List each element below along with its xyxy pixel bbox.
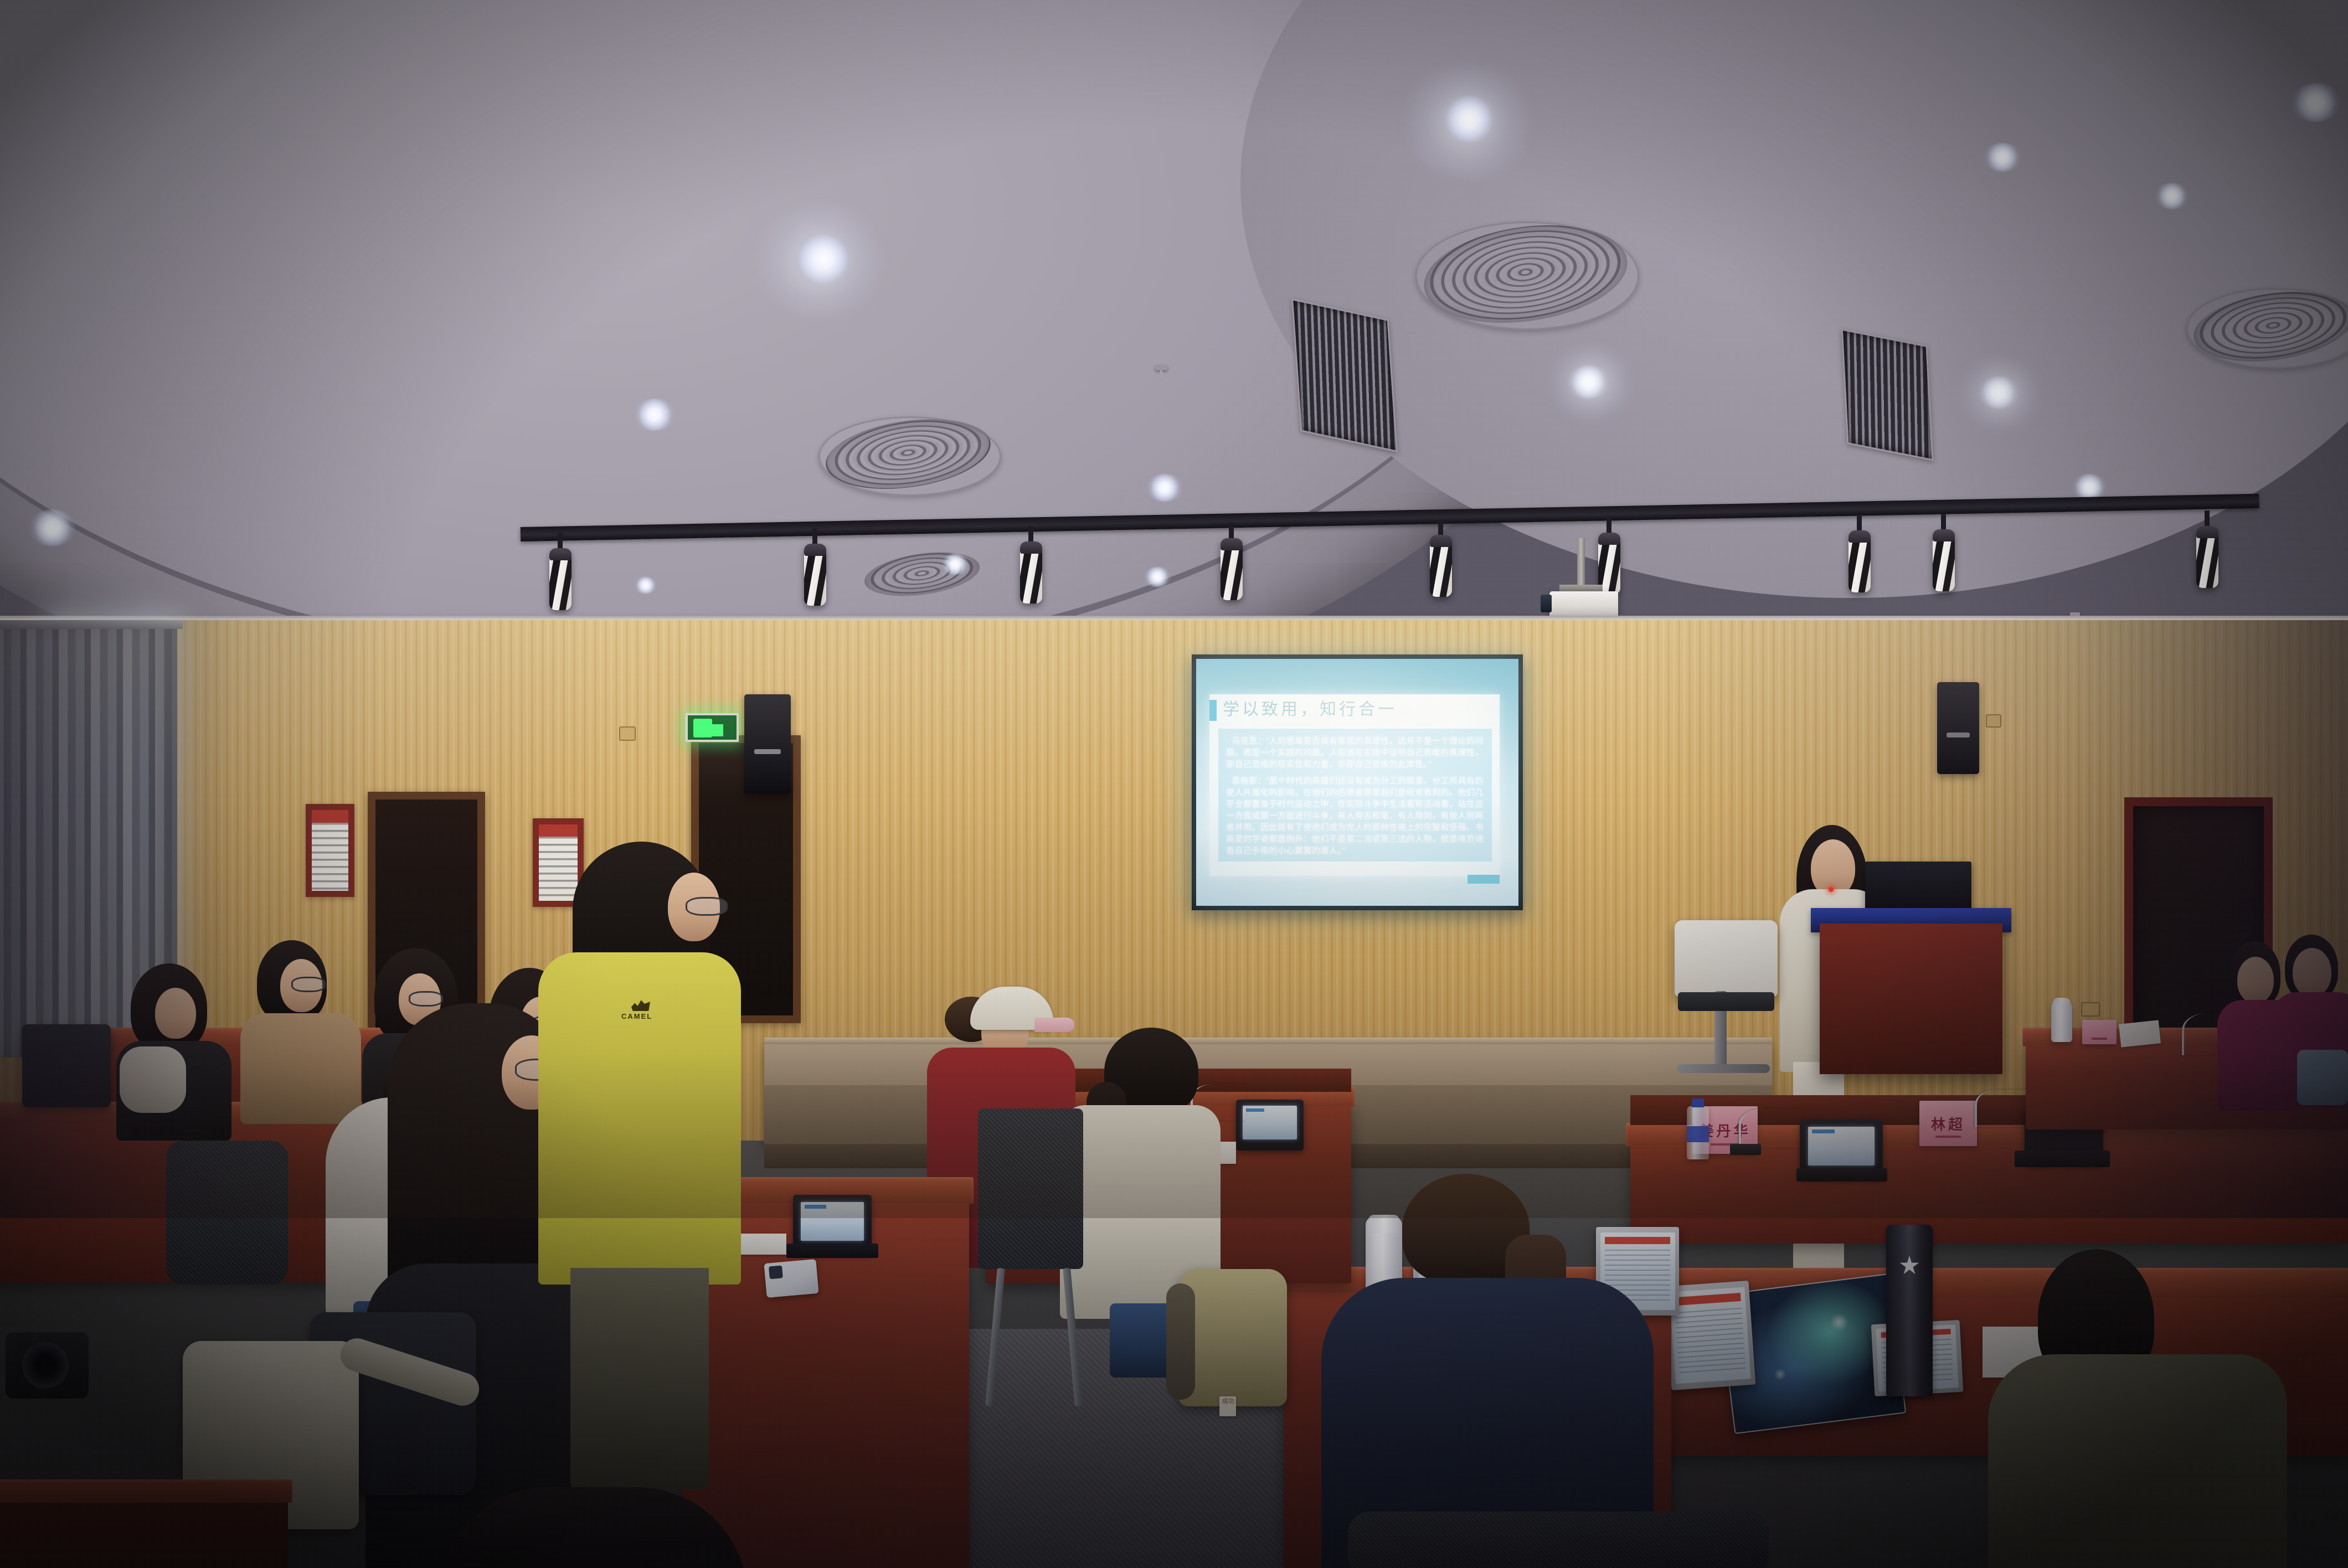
bottom-left-desk: [0, 1495, 288, 1568]
ceiling-downlight: [791, 234, 856, 285]
downlight-glow: [1544, 347, 1638, 419]
track-spotlight: [1221, 538, 1243, 600]
laptop-screen[interactable]: [1669, 1287, 1751, 1384]
backpack-strap: [1166, 1283, 1195, 1400]
lecture-hall-photo: 学以致用，知行合一 马克思：“人的思维是否具有客观的真理性，这并不是一个理论的问…: [0, 0, 2348, 1568]
ceiling-vent-grille-icon: [1841, 328, 1934, 461]
track-spotlight: [2196, 526, 2218, 588]
ceiling-downlight: [2289, 83, 2342, 122]
track-spotlight: [1933, 529, 1955, 591]
standing-attendee-trousers: [570, 1268, 709, 1489]
chair-backrest[interactable]: [1348, 1512, 1769, 1568]
track-spotlight: [1020, 541, 1042, 604]
ceiling-downlight: [634, 577, 658, 594]
downlight-glow: [1955, 359, 2046, 429]
track-spotlight: [549, 548, 571, 610]
ceiling-downlight: [1983, 143, 2022, 172]
track-spotlight: [804, 544, 826, 606]
laptop-screen-text-rows: [1675, 1308, 1746, 1376]
ceiling-vent-grille-icon: [1291, 298, 1398, 452]
ceiling-downlight: [1143, 567, 1172, 587]
ceiling-air-diffuser-rim: [1415, 221, 1639, 330]
ceiling-downlight: [2154, 183, 2190, 209]
ceiling-downlight: [1145, 474, 1184, 502]
laptop-screen-titlebar: [1674, 1293, 1741, 1306]
ceiling-projector: [1549, 591, 1618, 618]
wall-shading-overlay: [0, 620, 2348, 1218]
backpack-charm-tag: 成功: [1219, 1396, 1236, 1416]
track-spotlight: [1848, 530, 1871, 592]
person-torso: [1988, 1354, 2287, 1568]
ceiling-downlight: [28, 509, 78, 546]
track-spotlight: [1430, 535, 1452, 597]
ceiling-downlight: [940, 554, 970, 575]
conference-tablet-base: [786, 1244, 878, 1258]
smartphone[interactable]: [764, 1259, 818, 1298]
sprinkler-head-icon: [1155, 365, 1167, 370]
camera-lens-icon: [22, 1342, 69, 1389]
sticker-water-bottle[interactable]: [1886, 1225, 1933, 1396]
projector-lens-icon: [1541, 595, 1552, 612]
laptop-screen-titlebar: [1605, 1237, 1671, 1244]
ceiling-air-diffuser-rim: [818, 416, 1001, 496]
bottom-left-desk-top: [0, 1479, 292, 1503]
ceiling-downlight: [632, 399, 677, 431]
ceiling-downlight: [1439, 95, 1500, 143]
